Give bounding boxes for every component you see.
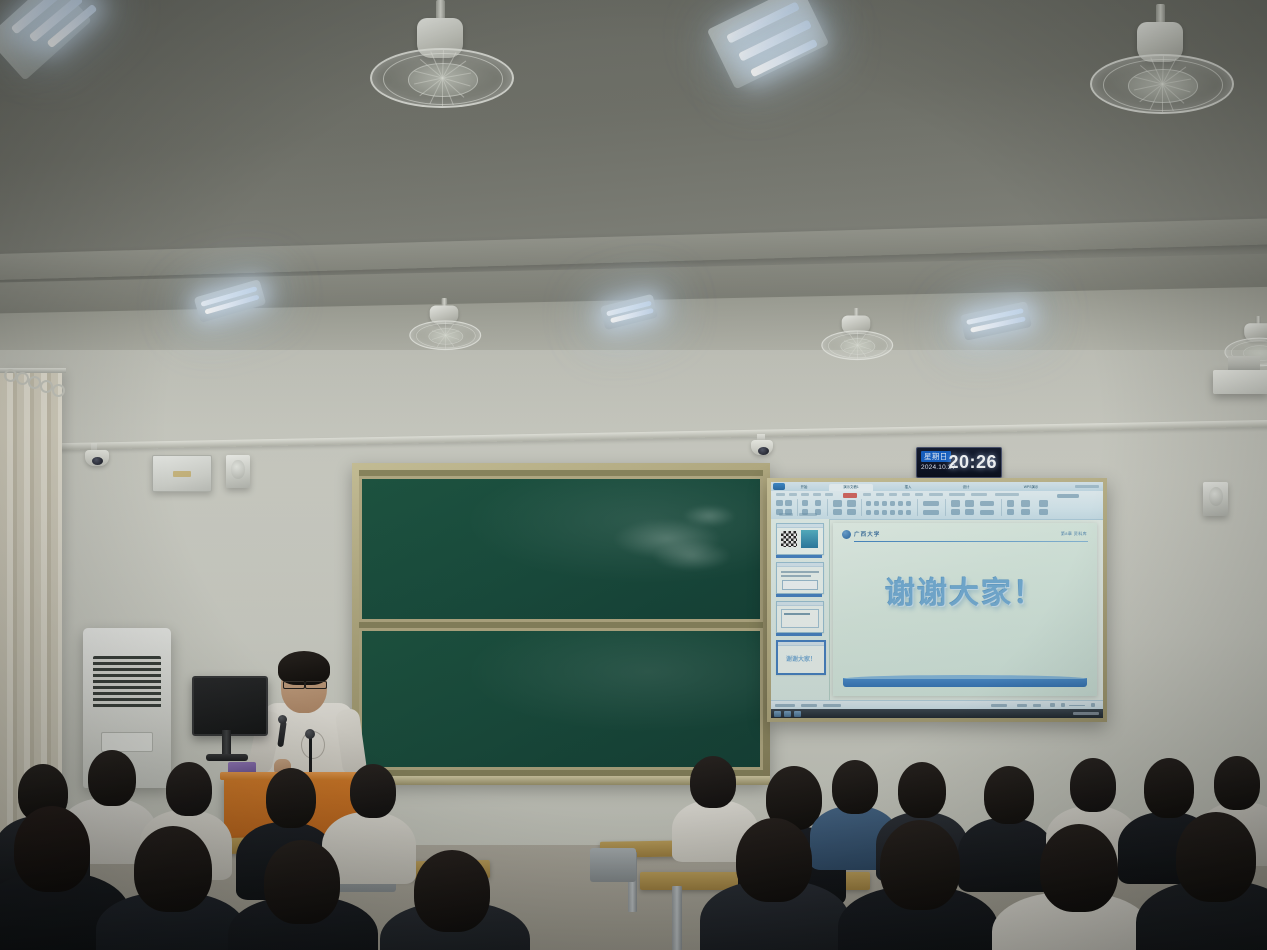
status-view-reading[interactable] [1033,704,1041,707]
ribbon-icon[interactable] [906,501,911,506]
ppt-tab-0[interactable]: 开始 [789,484,819,491]
ribbon-icon[interactable] [898,501,903,506]
start-button-icon[interactable] [774,711,781,717]
slide-thumbnail-1[interactable] [776,523,824,555]
ribbon-tab-row[interactable] [776,493,785,496]
thumbnail-header [777,524,823,528]
audience-head [350,764,396,818]
thumbnail-header [777,602,823,606]
projection-screen[interactable]: 开始 演示文稿1 插入 设计 WPS演示 [771,482,1103,718]
classroom-photo: 星期日 2024.10.27 20:26 开始 演示文稿1 插入 设计 WPS演… [0,0,1267,950]
ribbon-icon[interactable] [1021,509,1030,515]
ppt-status-bar [771,700,1103,709]
audience-head [736,818,812,902]
ribbon-icon[interactable] [874,510,879,515]
curtain-ring [4,369,17,382]
ribbon-separator [861,499,862,516]
ribbon-tab-row[interactable] [971,493,987,496]
ribbon-tab-row[interactable] [789,493,797,496]
thumbnail-text-box [782,580,818,590]
blackboard-inner [359,470,763,776]
fan-cage-ribs [1092,56,1232,112]
ribbon-separator [945,499,946,516]
ribbon-icon[interactable] [785,500,792,506]
ppt-tab-4[interactable]: WPS演示 [1009,484,1053,491]
ribbon-icon[interactable] [951,509,960,515]
blackboard-panel-upper [359,476,763,622]
thumbnail-image-blue [801,530,818,548]
ribbon-icon[interactable] [890,510,895,515]
fan-cage [409,320,481,350]
audience-head [832,760,878,814]
digital-wall-clock: 星期日 2024.10.27 20:26 [916,447,1002,478]
ribbon-separator [827,499,828,516]
audience-head [14,806,90,892]
window-controls[interactable] [1075,485,1099,488]
ribbon-icon[interactable] [1057,494,1079,498]
ribbon-icon[interactable] [776,500,783,506]
status-view-slideshow-icon[interactable] [1050,703,1055,707]
ribbon-icon[interactable] [965,500,974,507]
slide-footer-band [843,678,1087,687]
air-conditioner-control-panel[interactable] [101,732,153,752]
electrical-box [152,455,212,492]
electrical-box-label [173,471,191,477]
audience-head [266,768,316,828]
ribbon-icon[interactable] [833,509,842,515]
status-language [801,704,817,707]
ribbon-icon[interactable] [951,500,960,507]
presenter-monitor [192,676,268,736]
fan-cage-ribs [823,332,892,359]
ribbon-icon[interactable] [906,510,911,515]
audience-head [134,826,212,912]
podium-microphone-head-icon [305,729,315,739]
ppt-tab-3[interactable]: 设计 [949,484,983,491]
status-view-sorter[interactable] [1017,704,1027,707]
ribbon-icon[interactable] [1007,509,1014,515]
ribbon-tab-row[interactable] [889,493,897,496]
thumbnail-text-box [781,609,819,628]
thumbnail-header [778,642,824,646]
audience-head [1070,758,1116,812]
ribbon-icon[interactable] [815,500,821,506]
ribbon-icon[interactable] [802,500,808,506]
audience-head [880,820,960,910]
ribbon-separator [797,499,798,516]
thumbnail-slide-caption: 谢谢大家！ [778,654,824,663]
ceiling-projector [1213,370,1267,394]
ribbon-icon[interactable] [898,510,903,515]
air-conditioner-grill [93,656,161,708]
ppt-ribbon [771,491,1103,520]
wps-logo-icon [773,483,785,490]
chalk-mark [682,505,736,527]
university-emblem-icon [842,530,851,539]
projection-screen-frame: 开始 演示文稿1 插入 设计 WPS演示 [767,478,1107,722]
presenter-hair [278,651,330,685]
ribbon-icon[interactable] [890,501,895,506]
projector-mount-arm [1228,356,1260,371]
ribbon-tab-row[interactable] [929,493,943,496]
status-view-normal[interactable] [991,704,1007,707]
slide-thumbnail-3[interactable] [776,601,824,633]
ribbon-icon[interactable] [847,500,856,507]
ribbon-tab-row[interactable] [915,493,923,496]
monitor-stand [222,730,231,756]
ribbon-icon[interactable] [923,501,939,506]
ppt-tab-1[interactable]: 演示文稿1 [829,484,873,491]
ribbon-tab-row[interactable] [902,493,910,496]
ribbon-icon[interactable] [923,510,939,515]
thumbnail-accent-bar [776,633,822,636]
ribbon-icon[interactable] [866,510,871,515]
audience-head [1040,824,1118,912]
ribbon-icon[interactable] [866,501,871,506]
audience-head [1214,756,1260,810]
ribbon-icon[interactable] [882,510,887,515]
clock-time: 20:26 [948,452,997,472]
slide-thumbnail-2[interactable] [776,562,824,594]
fan-cage-ribs [372,50,512,106]
explorer-button-icon[interactable] [784,711,791,717]
active-slide[interactable]: 广西大学 第8章 资料库 谢谢大家！ [833,523,1097,696]
wall-speaker [1203,482,1228,516]
microphone-head-icon [278,715,287,724]
thumbnail-accent-bar [776,594,822,597]
audience-head [690,756,736,808]
ribbon-tab-row[interactable] [876,493,884,496]
audience-head [1176,812,1256,902]
university-name: 广西大学 [854,530,880,538]
audience-head [984,766,1034,824]
ribbon-icon[interactable] [1007,500,1014,507]
status-slide-indicator [775,704,795,707]
audience-head [898,762,946,818]
ribbon-icon[interactable] [874,501,879,506]
slide-thumbnail-4[interactable]: 谢谢大家！ [776,640,826,675]
fan-cage [1090,54,1234,114]
panel-tab-outline[interactable] [779,513,793,516]
security-camera [85,450,109,466]
ribbon-icon[interactable] [847,509,856,515]
audience-head [166,762,212,816]
wall-speaker [226,455,250,488]
thumbnail-accent-bar [776,555,822,558]
slide-thumbnail-panel[interactable]: 谢谢大家！ [771,519,830,701]
fan-cage [821,330,893,360]
presenter-glasses [305,681,327,689]
blackboard-frame [352,463,770,783]
desk-leg [672,886,682,950]
fan-cage-ribs [411,322,480,349]
audience-head [88,750,136,806]
ribbon-icon[interactable] [833,500,842,507]
thumbnail-header [777,563,823,567]
fan-cage [370,48,514,108]
ribbon-icon[interactable] [1039,509,1048,515]
ribbon-icon[interactable] [882,501,887,506]
slide-header-rule [854,541,1088,542]
ribbon-tab-row[interactable] [863,493,871,496]
audience-head [414,850,490,932]
status-theme [823,704,841,707]
slide-header-tag: 第8章 资料库 [1061,531,1087,537]
ribbon-tab-row[interactable] [995,493,1019,496]
ribbon-icon[interactable] [980,501,994,506]
ribbon-tab-row[interactable] [825,493,833,496]
audience-head [1144,758,1194,818]
thumbnail-text-line [781,571,819,573]
status-zoom-slider[interactable] [1069,705,1085,707]
chair-back [590,848,636,882]
ribbon-tab-row[interactable] [813,493,821,496]
clock-weekday: 星期日 [921,451,951,462]
audience-head [264,840,340,924]
panel-tab-slides[interactable] [799,513,817,516]
taskbar-tray[interactable] [1073,712,1099,715]
ribbon-separator [1001,499,1002,516]
thumbnail-text-line [784,613,810,615]
presenter-glasses [283,681,305,689]
ribbon-tab-row[interactable] [801,493,809,496]
slide-title-text: 谢谢大家！ [833,579,1097,609]
windows-taskbar[interactable] [771,709,1103,718]
ribbon-tab-row[interactable] [949,493,965,496]
blackboard-panel-lower [359,628,763,770]
ppt-tab-2[interactable]: 插入 [891,484,925,491]
status-zoom-in-icon[interactable] [1091,703,1095,707]
monitor-base [206,754,248,761]
status-zoom-out-icon[interactable] [1061,703,1065,707]
ribbon-icon[interactable] [1039,500,1048,507]
ribbon-icon[interactable] [1021,500,1030,507]
thumbnail-image-qr [781,531,797,547]
ribbon-separator [917,499,918,516]
ribbon-icon[interactable] [980,510,994,515]
chalk-mark [652,541,732,571]
ribbon-highlight-button[interactable] [843,493,857,498]
thumbnail-text-line [781,575,811,577]
security-camera [751,440,773,455]
wps-button-icon[interactable] [794,711,801,717]
curtain-ring [52,384,65,397]
ribbon-icon[interactable] [965,509,974,515]
